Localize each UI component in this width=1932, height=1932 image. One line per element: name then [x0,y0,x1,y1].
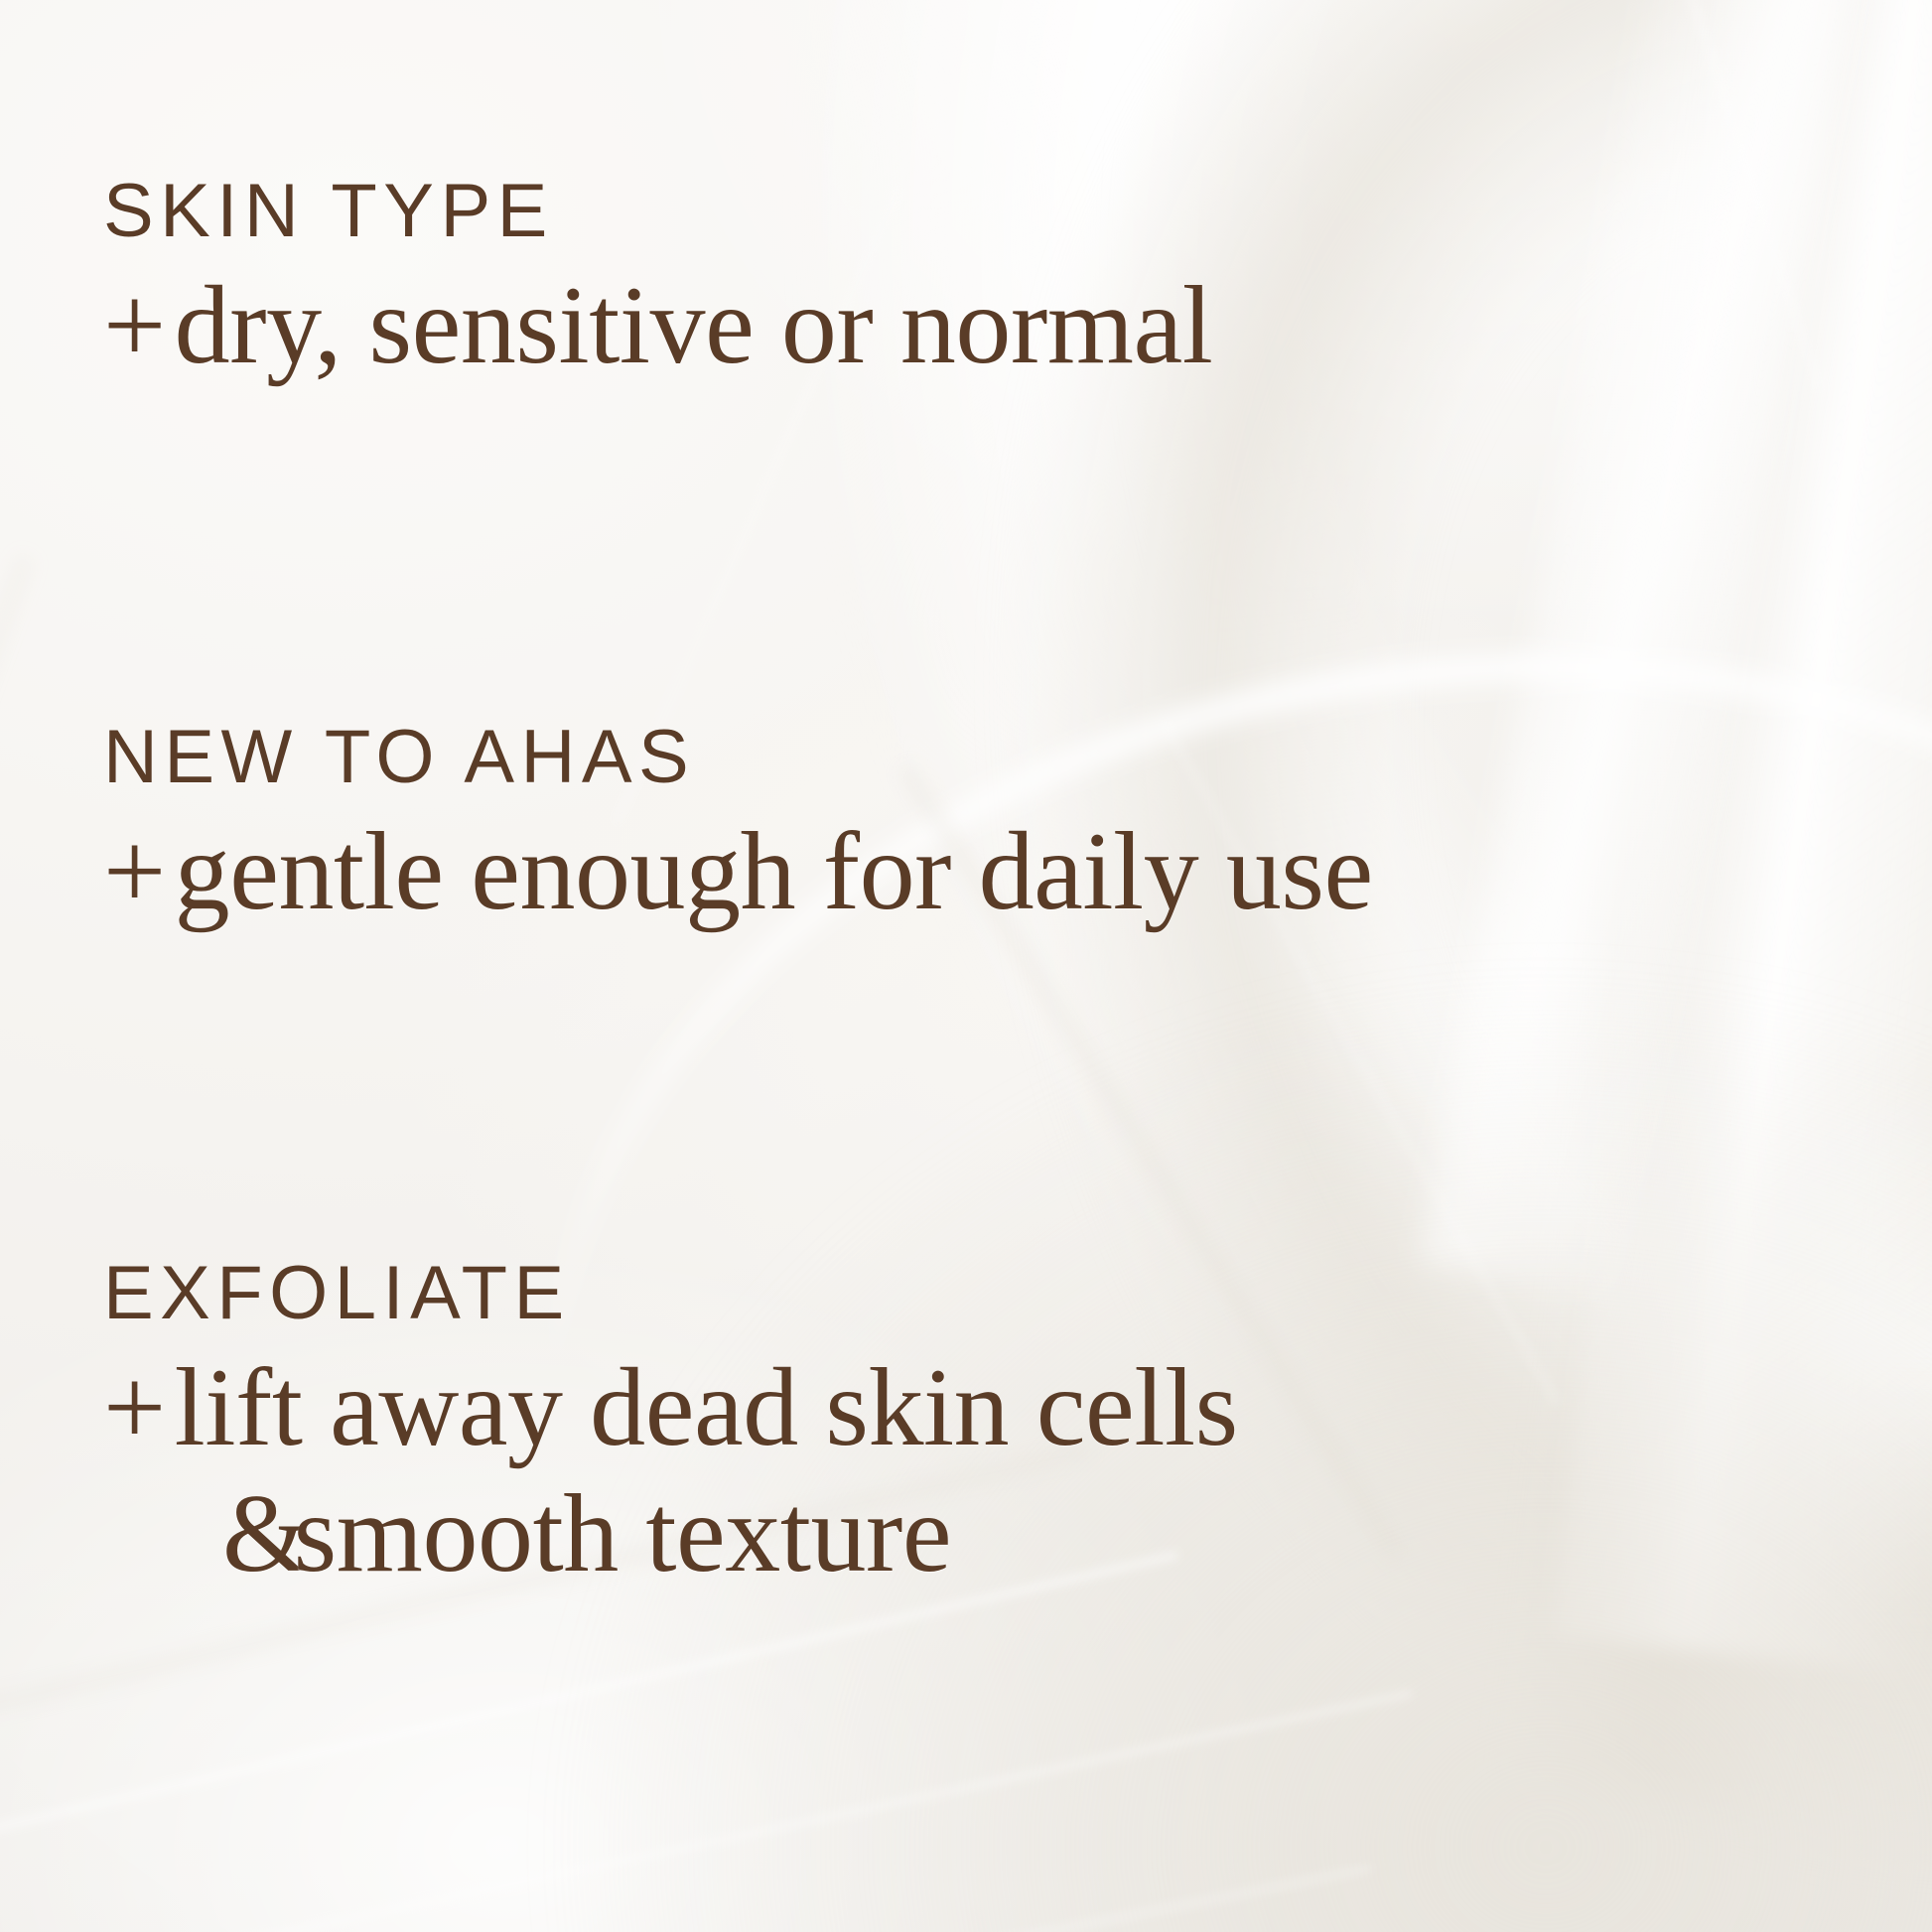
benefit-line: +dry, sensitive or normal [103,263,1892,389]
plus-bullet-icon: + [103,809,175,935]
benefit-line: +gentle enough for daily use [103,809,1892,935]
benefit-kicker-new-to-ahas: NEW TO AHAs [103,720,1892,795]
benefit-line: &smooth texture [103,1471,1892,1597]
benefit-line-text: lift away dead skin cells [175,1346,1238,1469]
benefits-content: SKIN TYPE +dry, sensitive or normal NEW … [0,0,1932,1932]
benefit-block-new-to-ahas: NEW TO AHAs +gentle enough for daily use [103,720,1892,935]
benefit-description-skin-type: +dry, sensitive or normal [103,263,1892,389]
benefit-line-text: dry, sensitive or normal [175,264,1213,387]
benefit-description-exfoliate: +lift away dead skin cells &smooth textu… [103,1345,1892,1596]
benefit-kicker-skin-type: SKIN TYPE [103,174,1892,249]
plus-bullet-icon: + [103,1345,175,1471]
plus-bullet-icon: + [103,263,175,389]
benefit-block-skin-type: SKIN TYPE +dry, sensitive or normal [103,174,1892,389]
benefit-description-new-to-ahas: +gentle enough for daily use [103,809,1892,935]
ampersand-bullet-icon: & [222,1471,294,1597]
benefit-line-text: gentle enough for daily use [175,810,1373,933]
product-benefits-panel: SKIN TYPE +dry, sensitive or normal NEW … [0,0,1932,1932]
benefit-kicker-exfoliate: EXFOLIATE [103,1256,1892,1331]
benefit-line: +lift away dead skin cells [103,1345,1892,1471]
benefit-block-exfoliate: EXFOLIATE +lift away dead skin cells &sm… [103,1256,1892,1596]
benefit-line-text: smooth texture [294,1472,952,1595]
